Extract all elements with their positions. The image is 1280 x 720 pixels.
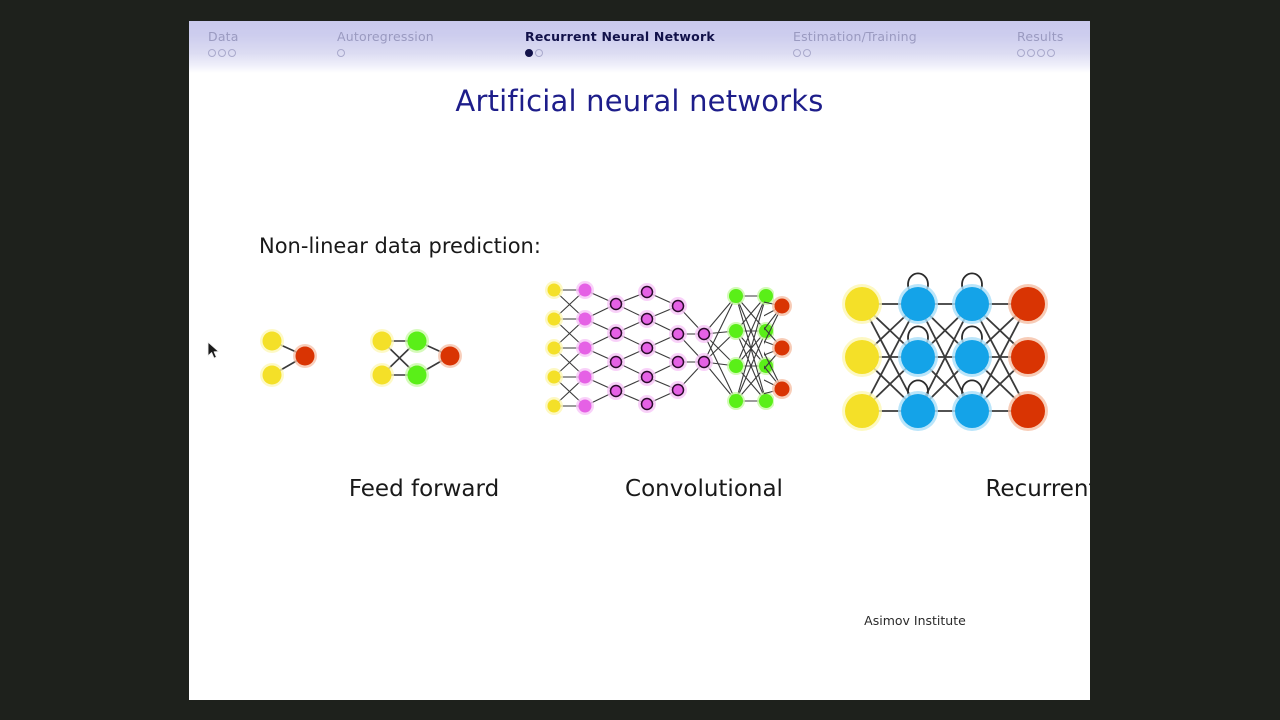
- node-conv-kernel: [699, 357, 710, 368]
- node-recurrent: [901, 394, 935, 428]
- node-recurrent: [955, 394, 989, 428]
- node-input: [845, 394, 879, 428]
- convolutional-output-layer: [764, 276, 814, 426]
- node-input: [548, 284, 561, 297]
- node-recurrent: [955, 340, 989, 374]
- credit-attribution: Asimov Institute: [790, 613, 1040, 628]
- beamer-navigation-bar: Data Autoregression Recurrent Neural Net…: [189, 21, 1090, 73]
- node-output: [1011, 394, 1045, 428]
- page-title: Artificial neural networks: [189, 84, 1090, 118]
- presentation-slide: Data Autoregression Recurrent Neural Net…: [189, 21, 1090, 700]
- node-hidden: [729, 359, 743, 373]
- node-conv-kernel: [673, 329, 684, 340]
- nav-section-data[interactable]: Data: [208, 29, 239, 57]
- node-conv-kernel: [611, 357, 622, 368]
- node-output: [1011, 287, 1045, 321]
- node-output: [775, 382, 790, 397]
- node-conv-kernel: [611, 299, 622, 310]
- node-conv-kernel: [673, 357, 684, 368]
- node-hidden: [729, 289, 743, 303]
- node-conv: [579, 400, 592, 413]
- node-hidden: [729, 394, 743, 408]
- screen: Data Autoregression Recurrent Neural Net…: [0, 0, 1280, 720]
- nav-dot[interactable]: [208, 49, 216, 57]
- node-input: [548, 313, 561, 326]
- nav-section-label: Estimation/Training: [793, 29, 917, 44]
- feed-forward-diagram: [244, 276, 534, 426]
- nav-dot[interactable]: [535, 49, 543, 57]
- nav-section-label: Results: [1017, 29, 1064, 44]
- nav-section-label: Autoregression: [337, 29, 434, 44]
- node-conv-kernel: [673, 301, 684, 312]
- nav-dot[interactable]: [793, 49, 801, 57]
- node-input: [373, 366, 392, 385]
- node-conv: [579, 342, 592, 355]
- node-output: [441, 347, 460, 366]
- node-input: [548, 400, 561, 413]
- nav-dot-current[interactable]: [525, 49, 533, 57]
- node-hidden: [408, 332, 427, 351]
- node-conv: [579, 313, 592, 326]
- node-conv: [579, 371, 592, 384]
- node-conv-kernel: [642, 314, 653, 325]
- node-recurrent: [955, 287, 989, 321]
- node-conv-kernel: [642, 343, 653, 354]
- node-input: [845, 340, 879, 374]
- node-conv-kernel: [611, 328, 622, 339]
- nav-section-dots[interactable]: [337, 47, 434, 57]
- recurrent-diagram: [839, 259, 1059, 459]
- node-conv-kernel: [611, 386, 622, 397]
- node-conv-kernel: [642, 287, 653, 298]
- node-input: [845, 287, 879, 321]
- node-input: [548, 371, 561, 384]
- nav-section-dots[interactable]: [525, 47, 715, 57]
- node-conv-kernel: [642, 399, 653, 410]
- node-output: [775, 341, 790, 356]
- nav-section-estimation-training[interactable]: Estimation/Training: [793, 29, 917, 57]
- nav-dot[interactable]: [803, 49, 811, 57]
- nav-section-results[interactable]: Results: [1017, 29, 1064, 57]
- nav-section-label: Data: [208, 29, 239, 44]
- nav-section-autoregression[interactable]: Autoregression: [337, 29, 434, 57]
- nav-section-dots[interactable]: [1017, 47, 1064, 57]
- nav-dot[interactable]: [1047, 49, 1055, 57]
- nav-dot[interactable]: [1017, 49, 1025, 57]
- nav-section-dots[interactable]: [208, 47, 239, 57]
- nav-dot[interactable]: [1027, 49, 1035, 57]
- nav-dot[interactable]: [228, 49, 236, 57]
- node-output: [775, 299, 790, 314]
- node-recurrent: [901, 340, 935, 374]
- nav-section-dots[interactable]: [793, 47, 917, 57]
- node-output: [296, 347, 315, 366]
- nav-dot[interactable]: [337, 49, 345, 57]
- node-input: [373, 332, 392, 351]
- node-hidden: [408, 366, 427, 385]
- node-output: [1011, 340, 1045, 374]
- node-recurrent: [901, 287, 935, 321]
- node-hidden: [729, 324, 743, 338]
- body-text: Non-linear data prediction:: [259, 234, 541, 258]
- nav-dot[interactable]: [1037, 49, 1045, 57]
- caption-recurrent: Recurrent: [789, 476, 1090, 502]
- node-input: [548, 342, 561, 355]
- node-conv: [579, 284, 592, 297]
- node-conv-kernel: [673, 385, 684, 396]
- node-conv-kernel: [642, 372, 653, 383]
- node-input: [263, 366, 282, 385]
- node-conv-kernel: [699, 329, 710, 340]
- nav-section-label: Recurrent Neural Network: [525, 29, 715, 44]
- node-input: [263, 332, 282, 351]
- convolutional-diagram: [544, 276, 774, 426]
- nav-dot[interactable]: [218, 49, 226, 57]
- nav-section-recurrent-neural-network[interactable]: Recurrent Neural Network: [525, 29, 715, 57]
